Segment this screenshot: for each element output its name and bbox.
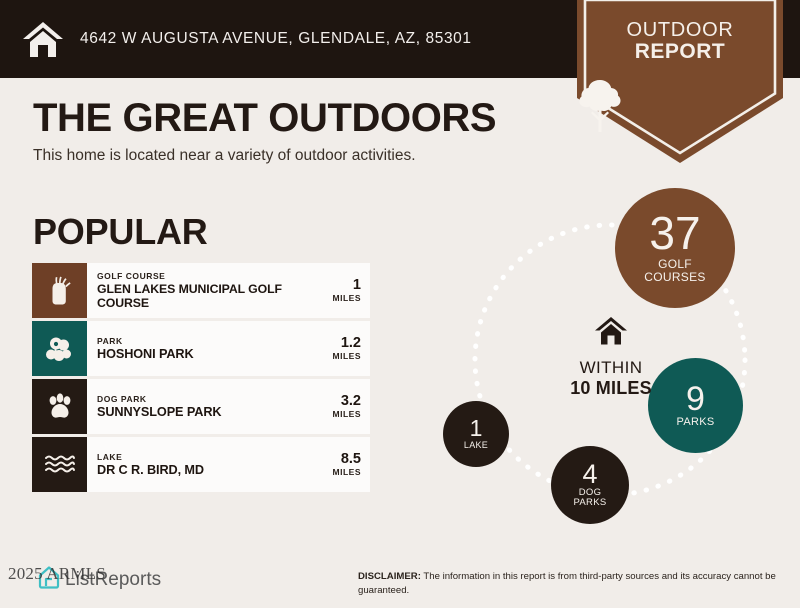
list-item-text: LAKE DR C R. BIRD, MD [87, 437, 300, 492]
bubble-label-line-2: PARKS [573, 498, 606, 508]
disclaimer: DISCLAIMER: The information in this repo… [358, 570, 778, 597]
house-icon [22, 19, 64, 59]
distance-value: 1.2 [341, 336, 361, 351]
list-item-category: DOG PARK [97, 394, 300, 405]
bubble-label-line-1: PARKS [677, 417, 715, 429]
outdoor-report-badge: OUTDOOR REPORT [577, 0, 783, 164]
list-item[interactable]: LAKE DR C R. BIRD, MD 8.5 MILES [32, 437, 370, 492]
bubble-label-line-2: COURSES [644, 271, 705, 284]
list-item-distance: 3.2 MILES [300, 379, 370, 434]
list-item-text: DOG PARK SUNNYSLOPE PARK [87, 379, 300, 434]
popular-heading: POPULAR [33, 211, 208, 253]
list-item-name: GLEN LAKES MUNICIPAL GOLF COURSE [97, 282, 300, 310]
bubble-count: 4 [582, 462, 597, 488]
bubble-label-line-1: LAKE [464, 441, 488, 451]
tree-icon [577, 78, 783, 134]
distance-unit: MILES [333, 293, 361, 303]
page-title: THE GREAT OUTDOORS [33, 96, 496, 141]
distance-value: 8.5 [341, 452, 361, 467]
page-subtitle: This home is located near a variety of o… [33, 147, 416, 165]
mls-watermark: 2025 ARMLS [8, 564, 106, 584]
distance-unit: MILES [333, 467, 361, 477]
list-item-category: GOLF COURSE [97, 271, 300, 282]
distance-value: 3.2 [341, 394, 361, 409]
bubble-label-line-1: GOLF [658, 258, 692, 271]
distance-value: 1 [353, 278, 361, 293]
list-item[interactable]: GOLF COURSE GLEN LAKES MUNICIPAL GOLF CO… [32, 263, 370, 318]
house-icon [531, 316, 691, 351]
distance-unit: MILES [333, 409, 361, 419]
waves-icon [32, 437, 87, 492]
property-address: 4642 W AUGUSTA AVENUE, GLENDALE, AZ, 853… [80, 30, 472, 48]
distance-unit: MILES [333, 351, 361, 361]
list-item-text: GOLF COURSE GLEN LAKES MUNICIPAL GOLF CO… [87, 263, 300, 318]
within-10-miles-diagram: 37 GOLF COURSES 9 PARKS 4 DOG PARKS 1 LA… [420, 178, 800, 543]
diagram-center-label: WITHIN 10 MILES [531, 316, 691, 399]
bubble-dog-parks[interactable]: 4 DOG PARKS [551, 446, 629, 524]
list-item-distance: 1 MILES [300, 263, 370, 318]
list-item-name: SUNNYSLOPE PARK [97, 405, 300, 420]
list-item-name: DR C R. BIRD, MD [97, 463, 300, 478]
list-item-distance: 8.5 MILES [300, 437, 370, 492]
golf-bag-icon [32, 263, 87, 318]
center-line-2: 10 MILES [531, 378, 691, 400]
list-item-distance: 1.2 MILES [300, 321, 370, 376]
list-item-text: PARK HOSHONI PARK [87, 321, 300, 376]
bubble-lake[interactable]: 1 LAKE [443, 401, 509, 467]
center-line-1: WITHIN [531, 358, 691, 378]
bubble-golf-courses[interactable]: 37 GOLF COURSES [615, 188, 735, 308]
disclaimer-label: DISCLAIMER: [358, 571, 421, 582]
disclaimer-text: The information in this report is from t… [358, 571, 776, 596]
trees-icon [32, 321, 87, 376]
list-item[interactable]: PARK HOSHONI PARK 1.2 MILES [32, 321, 370, 376]
list-item-category: LAKE [97, 452, 300, 463]
paw-icon [32, 379, 87, 434]
bubble-count: 37 [649, 212, 700, 256]
list-item-name: HOSHONI PARK [97, 347, 300, 362]
popular-list: GOLF COURSE GLEN LAKES MUNICIPAL GOLF CO… [32, 263, 370, 495]
list-item-category: PARK [97, 336, 300, 347]
list-item[interactable]: DOG PARK SUNNYSLOPE PARK 3.2 MILES [32, 379, 370, 434]
bubble-count: 1 [470, 418, 483, 440]
